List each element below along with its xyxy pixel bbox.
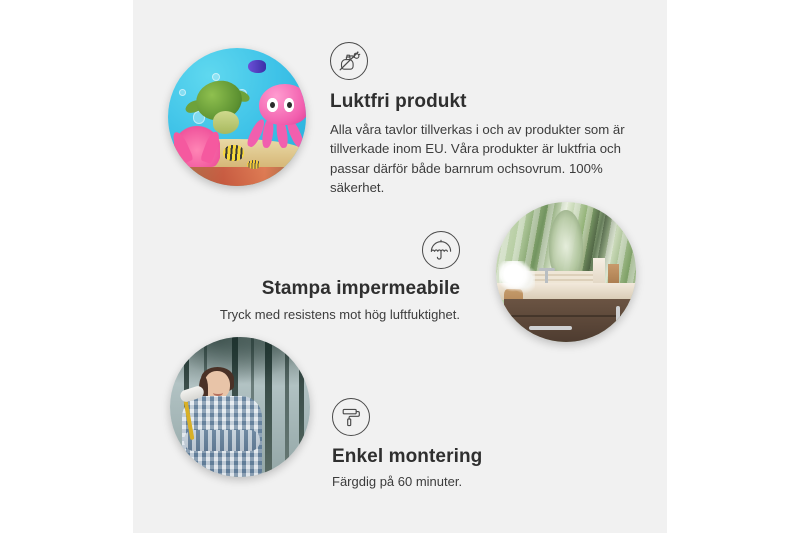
- bathroom-scene: [496, 202, 636, 342]
- product-feature-panel: Luktfri produkt Alla våra tavlor tillver…: [0, 0, 800, 533]
- sea-rock-strip: [168, 167, 306, 186]
- product-image-forest[interactable]: [170, 337, 310, 477]
- fish-icon: [248, 60, 266, 72]
- paint-roller-icon: [332, 398, 370, 436]
- feature-waterproof: Stampa impermeabile Tryck med resistens …: [200, 231, 460, 325]
- feature-body: Alla våra tavlor tillverkas i och av pro…: [330, 120, 630, 197]
- icon-row: [200, 231, 460, 269]
- forest-scene: [170, 337, 310, 477]
- feature-body: Färgdig på 60 minuter.: [332, 473, 592, 492]
- octopus-icon: [248, 84, 306, 150]
- flowers-icon: [499, 261, 535, 295]
- sea-scene: [168, 48, 306, 186]
- soap-bottle-icon: [593, 258, 606, 286]
- fish-icon: [247, 160, 261, 170]
- feature-title: Enkel montering: [332, 446, 592, 468]
- faucet-icon: [545, 268, 548, 283]
- product-image-bathroom[interactable]: [496, 202, 636, 342]
- turtle-icon: [187, 81, 250, 136]
- vanity-cabinet: [504, 299, 636, 342]
- woman-with-roller: [178, 371, 265, 477]
- feature-odourless: Luktfri produkt Alla våra tavlor tillver…: [330, 42, 630, 197]
- umbrella-icon: [422, 231, 460, 269]
- feature-body: Tryck med resistens mot hög luftfuktighe…: [200, 306, 460, 325]
- no-fragrance-icon: [330, 42, 368, 80]
- product-image-sea[interactable]: [168, 48, 306, 186]
- feature-title: Stampa impermeabile: [200, 278, 460, 300]
- feature-easy-mounting: Enkel montering Färgdig på 60 minuter.: [332, 398, 592, 492]
- feature-title: Luktfri produkt: [330, 91, 630, 113]
- fish-icon: [223, 145, 244, 162]
